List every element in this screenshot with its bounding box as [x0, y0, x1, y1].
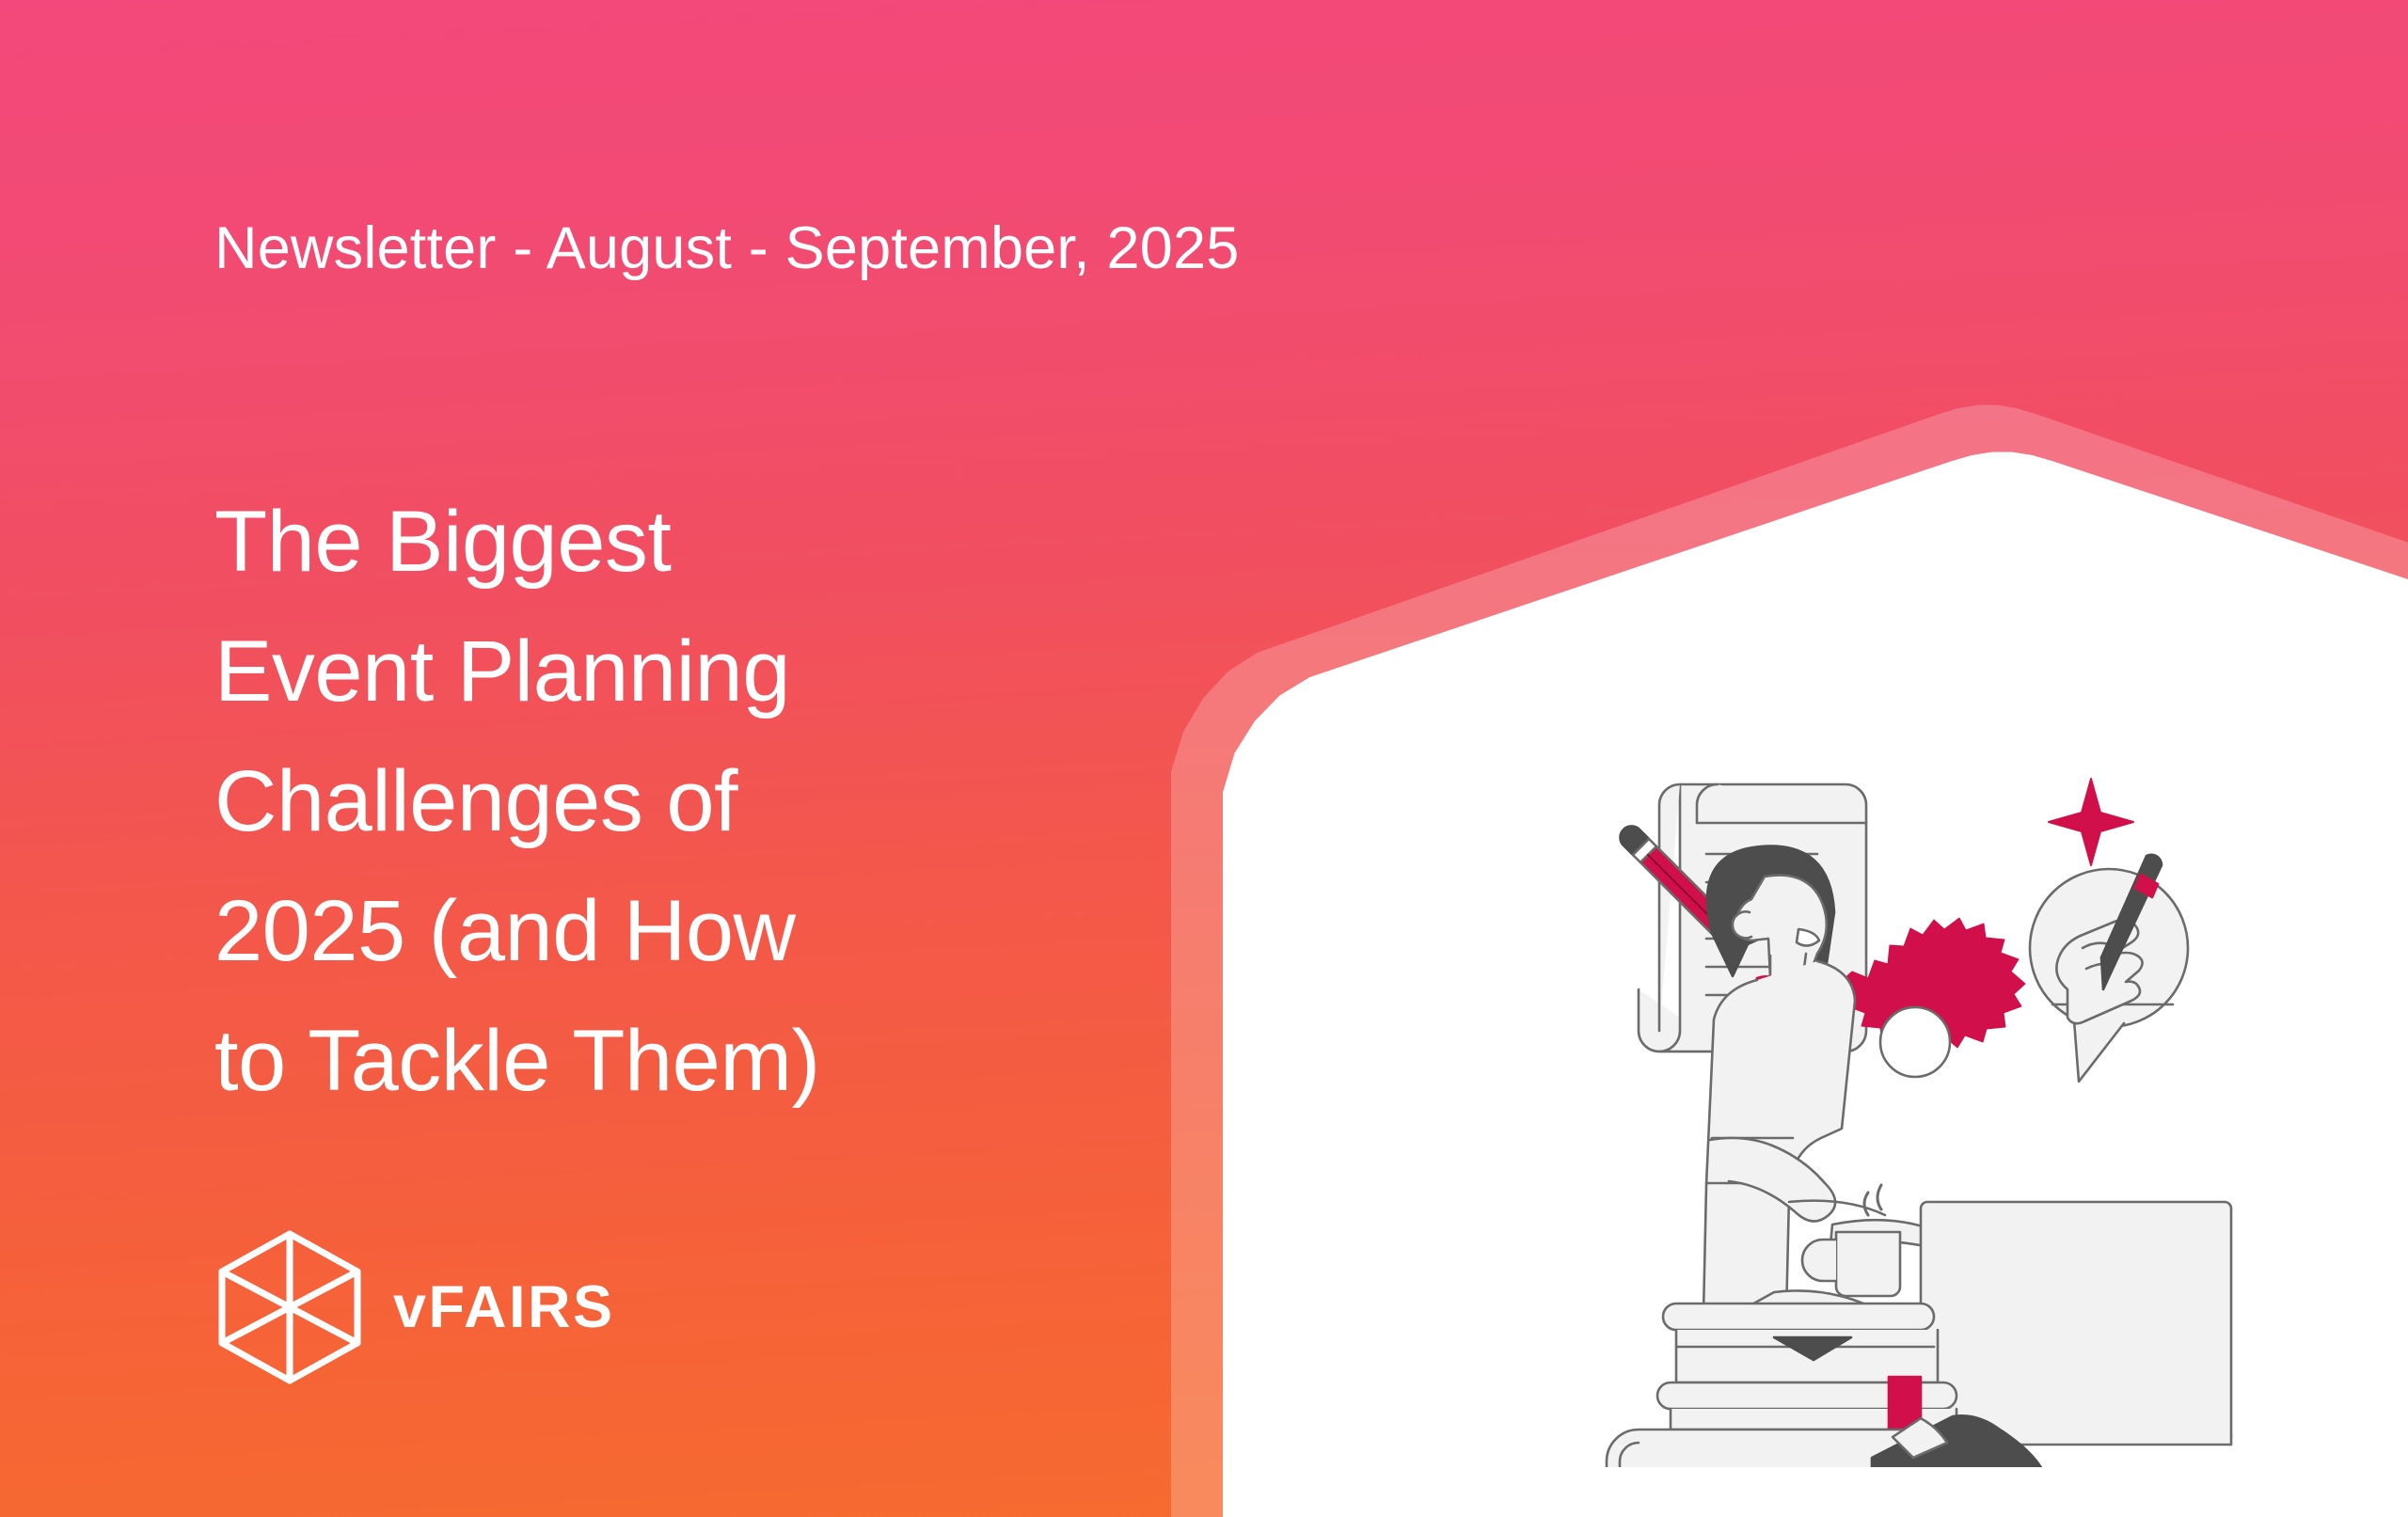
hexagon-cube-icon	[214, 1228, 365, 1386]
gear-icon	[1841, 918, 2025, 1077]
vfairs-wordmark: vFAIRS	[393, 1278, 615, 1337]
page-title: The Biggest Event Planning Challenges of…	[214, 477, 1136, 1126]
headline-line-1: The Biggest	[214, 477, 1136, 607]
text-column: Newsletter - August - September, 2025 Th…	[214, 0, 1155, 1517]
headline-line-4: 2025 (and How	[214, 866, 1136, 996]
vfairs-logo[interactable]: vFAIRS	[214, 1228, 615, 1386]
headline-line-2: Event Planning	[214, 607, 1136, 736]
sparkle-icon	[2049, 779, 2133, 865]
laptop-icon	[1921, 1202, 2231, 1445]
headline-line-3: Challenges of	[214, 736, 1136, 866]
headline-line-5: to Tackle Them)	[214, 996, 1136, 1126]
speech-bubble-hand-writing-icon	[2030, 855, 2188, 1082]
newsletter-banner: Newsletter - August - September, 2025 Th…	[0, 0, 2408, 1517]
illustration-svg	[1590, 771, 2342, 1467]
person-planning-illustration	[1590, 771, 2342, 1467]
newsletter-eyebrow: Newsletter - August - September, 2025	[214, 214, 1239, 282]
